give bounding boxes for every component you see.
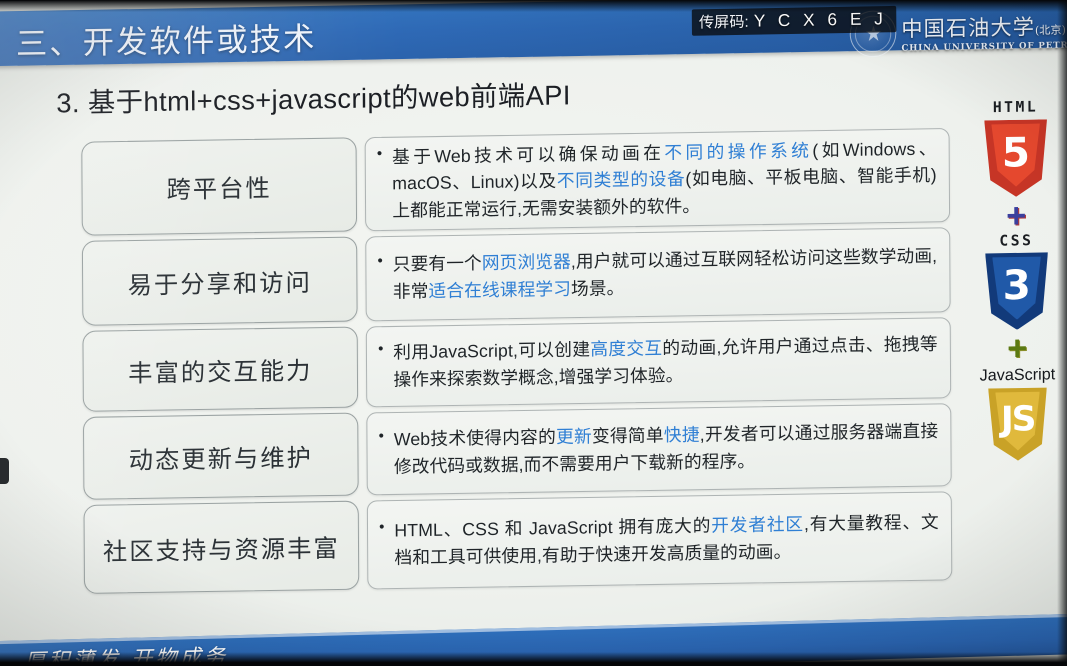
feature-bullet-text: 只要有一个网页浏览器,用户就可以通过互联网轻松访问这些数学动画,非常适合在线课程…: [377, 243, 937, 306]
javascript-caption: JavaScript: [980, 366, 1056, 385]
screencast-code-label: 传屏码:: [699, 10, 749, 32]
text-segment: Web技术使得内容的: [394, 427, 556, 450]
feature-label-box: 动态更新与维护: [83, 413, 359, 500]
feature-row: 动态更新与维护 Web技术使得内容的更新变得简单快捷,开发者可以通过服务器端直接…: [83, 403, 952, 500]
screencast-code-value: Y C X 6 E J: [754, 9, 887, 32]
feature-content-box: 利用JavaScript,可以创建高度交互的动画,允许用户通过点击、拖拽等操作来…: [366, 317, 951, 407]
slide-surface: 三、开发软件或技术 传屏码: Y C X 6 E J 中国石油大学(北京) CH…: [0, 0, 1067, 666]
html5-shield-glyph: 5: [1002, 133, 1030, 174]
feature-rows: 跨平台性 基于Web技术可以确保动画在不同的操作系统(如Windows、macO…: [81, 128, 952, 599]
text-segment-highlight: 适合在线课程学习: [428, 279, 571, 301]
text-segment: 场景。: [571, 278, 625, 299]
tech-stack-logo-column: HTML 5 + CSS 3 + JavaScript JS: [965, 100, 1067, 462]
feature-label: 跨平台性: [166, 168, 271, 205]
javascript-shield-glyph: JS: [1001, 402, 1035, 437]
text-segment: 利用JavaScript,可以创建: [393, 340, 590, 363]
projected-slide-photo: 三、开发软件或技术 传屏码: Y C X 6 E J 中国石油大学(北京) CH…: [0, 0, 1067, 666]
university-name-en: CHINA UNIVERSITY OF PETROLEUM: [901, 41, 1067, 54]
plus-icon: +: [1006, 201, 1026, 232]
photo-edge-right: [1057, 0, 1067, 666]
text-segment: 变得简单: [592, 425, 664, 446]
feature-label-box: 丰富的交互能力: [82, 327, 358, 412]
wall-fixture: [0, 458, 9, 484]
feature-label: 易于分享和访问: [128, 262, 312, 300]
feature-bullet-text: 利用JavaScript,可以创建高度交互的动画,允许用户通过点击、拖拽等操作来…: [378, 331, 938, 394]
university-name-cn-main: 中国石油大学: [901, 15, 1035, 42]
feature-content-box: HTML、CSS 和 JavaScript 拥有庞大的开发者社区,有大量教程、文…: [367, 491, 952, 589]
html5-shield-icon: 5: [984, 119, 1047, 197]
slide-subtitle: 3. 基于html+css+javascript的web前端API: [56, 73, 571, 121]
feature-label: 丰富的交互能力: [128, 350, 312, 388]
css3-shield-glyph: 3: [1003, 266, 1031, 307]
page-title: 三、开发软件或技术: [16, 13, 317, 64]
feature-content-box: 只要有一个网页浏览器,用户就可以通过互联网轻松访问这些数学动画,非常适合在线课程…: [365, 227, 950, 321]
feature-label-box: 易于分享和访问: [82, 236, 358, 325]
text-segment: 只要有一个: [393, 253, 482, 275]
text-segment-highlight: 网页浏览器: [482, 252, 571, 274]
text-segment-highlight: 不同的操作系统: [664, 140, 812, 163]
feature-label: 社区支持与资源丰富: [103, 528, 340, 567]
university-name-cn: 中国石油大学(北京): [901, 10, 1067, 43]
text-segment: HTML、CSS 和 JavaScript 拥有庞大的: [394, 516, 711, 541]
css3-shield-icon: 3: [985, 252, 1048, 330]
html5-caption: HTML: [993, 100, 1039, 117]
text-segment-highlight: 快捷: [664, 425, 700, 446]
feature-label: 动态更新与维护: [129, 437, 313, 475]
text-segment-highlight: 更新: [556, 427, 592, 448]
text-segment-highlight: 高度交互: [590, 338, 662, 359]
javascript-shield-icon: JS: [988, 387, 1047, 461]
feature-label-box: 社区支持与资源丰富: [83, 501, 359, 594]
plus-icon: +: [1007, 334, 1027, 365]
feature-row: 易于分享和访问 只要有一个网页浏览器,用户就可以通过互联网轻松访问这些数学动画,…: [82, 227, 951, 326]
feature-row: 社区支持与资源丰富 HTML、CSS 和 JavaScript 拥有庞大的开发者…: [83, 491, 952, 594]
text-segment-highlight: 开发者社区: [711, 514, 804, 536]
text-segment: 基于Web技术可以确保动画在: [392, 142, 664, 167]
feature-row: 跨平台性 基于Web技术可以确保动画在不同的操作系统(如Windows、macO…: [81, 128, 950, 236]
text-segment-highlight: 不同类型的设备: [557, 169, 686, 191]
feature-content-box: 基于Web技术可以确保动画在不同的操作系统(如Windows、macOS、Lin…: [365, 128, 951, 231]
photo-edge-top: [0, 0, 1067, 12]
feature-content-box: Web技术使得内容的更新变得简单快捷,开发者可以通过服务器端直接修改代码或数据,…: [366, 403, 951, 495]
feature-label-box: 跨平台性: [81, 137, 357, 235]
feature-bullet-text: Web技术使得内容的更新变得简单快捷,开发者可以通过服务器端直接修改代码或数据,…: [379, 418, 939, 481]
feature-bullet-text: HTML、CSS 和 JavaScript 拥有庞大的开发者社区,有大量教程、文…: [379, 509, 939, 572]
photo-edge-bottom: [0, 652, 1067, 666]
feature-row: 丰富的交互能力 利用JavaScript,可以创建高度交互的动画,允许用户通过点…: [82, 317, 951, 412]
feature-bullet-text: 基于Web技术可以确保动画在不同的操作系统(如Windows、macOS、Lin…: [377, 135, 937, 225]
university-logo-text: 中国石油大学(北京) CHINA UNIVERSITY OF PETROLEUM: [901, 10, 1067, 53]
css3-caption: CSS: [999, 233, 1033, 250]
